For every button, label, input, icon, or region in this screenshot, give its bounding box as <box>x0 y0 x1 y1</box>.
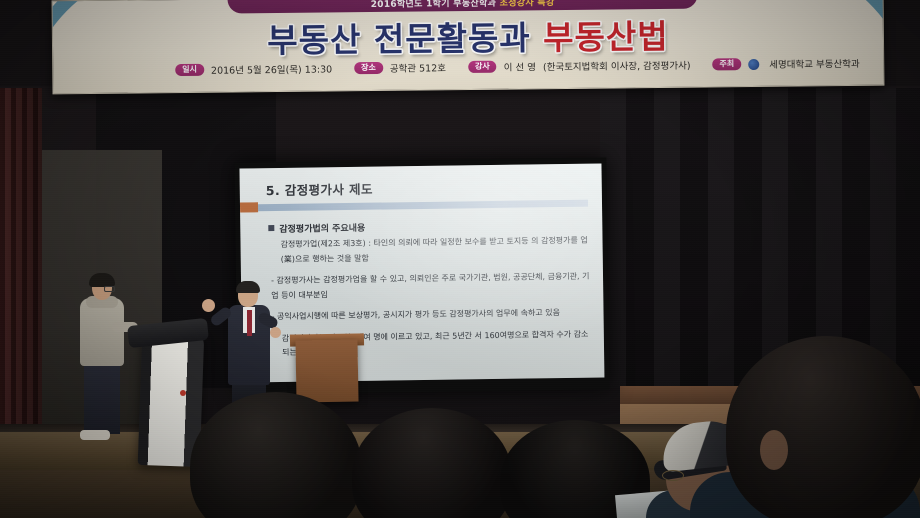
bullet-square-icon <box>268 225 274 231</box>
speaker-label-pill: 강사 <box>468 61 497 73</box>
banner-title-accent: 부동산법 <box>543 17 669 57</box>
lecturer-hair <box>236 281 260 293</box>
date-value: 2016년 5월 26일(목) 13:30 <box>211 61 332 76</box>
slide-subheading-text: 감정평가법의 주요내용 <box>279 224 365 235</box>
stage-back-wall-right <box>600 88 920 388</box>
presentation-slide: 5. 감정평가사 제도 감정평가법의 주요내용 감정평가업(제2조 제3호) :… <box>239 163 604 382</box>
date-label-pill: 일시 <box>175 64 204 76</box>
slide-paragraph: - 공익사업시행에 따른 보상평가, 공시지가 평가 등도 감정평가사의 업무에… <box>271 306 591 325</box>
projection-screen: 5. 감정평가사 제도 감정평가법의 주요내용 감정평가업(제2조 제3호) :… <box>234 157 609 394</box>
student-pants <box>84 362 120 434</box>
red-curtain <box>0 88 42 440</box>
speaker-value: 이 선 영 <box>504 59 536 73</box>
place-value: 공학관 512호 <box>390 60 446 75</box>
slide-paragraph: 감정평가업(제2조 제3호) : 타인의 의뢰에 따라 일정한 보수를 받고 토… <box>270 234 590 267</box>
foreground-ear <box>760 430 788 470</box>
audience-glasses-icon <box>662 470 684 481</box>
university-logo-icon <box>748 58 759 69</box>
student-hair <box>89 273 115 287</box>
place-label-pill: 장소 <box>354 62 383 74</box>
banner-strip-prefix: 2016학년도 1학기 부동산학과 <box>371 0 500 10</box>
host-value: 세명대학교 부동산학과 <box>769 56 860 71</box>
wooden-lectern <box>295 339 358 402</box>
lecturer-tie <box>247 310 252 336</box>
event-banner: 2016학년도 1학기 부동산학과 초청강사 특강 부동산 전문활동과 부동산법… <box>52 0 885 94</box>
assistant-student <box>76 276 132 446</box>
speaker-credentials: (한국토지법학회 이사장, 감정평가사) <box>543 58 691 74</box>
lecturer-left-hand <box>270 327 281 338</box>
student-shoe <box>80 430 110 440</box>
banner-strip-highlight: 초청강사 특강 <box>500 0 555 9</box>
student-hoodie <box>80 298 124 366</box>
banner-title-main: 부동산 전문활동과 <box>267 18 531 60</box>
host-label-pill: 주최 <box>712 58 741 70</box>
slide-subheading: 감정평가법의 주요내용 <box>268 221 365 235</box>
slide-title: 5. 감정평가사 제도 <box>266 179 373 199</box>
podium-indicator-light <box>180 390 186 396</box>
slide-paragraph: - 감정평가사는 감정평가업을 할 수 있고, 의뢰인은 주로 국가기관, 법원… <box>271 270 591 303</box>
foreground-audience-head <box>726 336 920 518</box>
lecturer-right-hand <box>202 299 215 312</box>
slide-accent-tab <box>240 202 258 212</box>
lecture-hall-screenshot: 2016학년도 1학기 부동산학과 초청강사 특강 부동산 전문활동과 부동산법… <box>0 0 920 518</box>
slide-divider <box>258 200 588 212</box>
student-glasses-icon <box>104 286 115 292</box>
